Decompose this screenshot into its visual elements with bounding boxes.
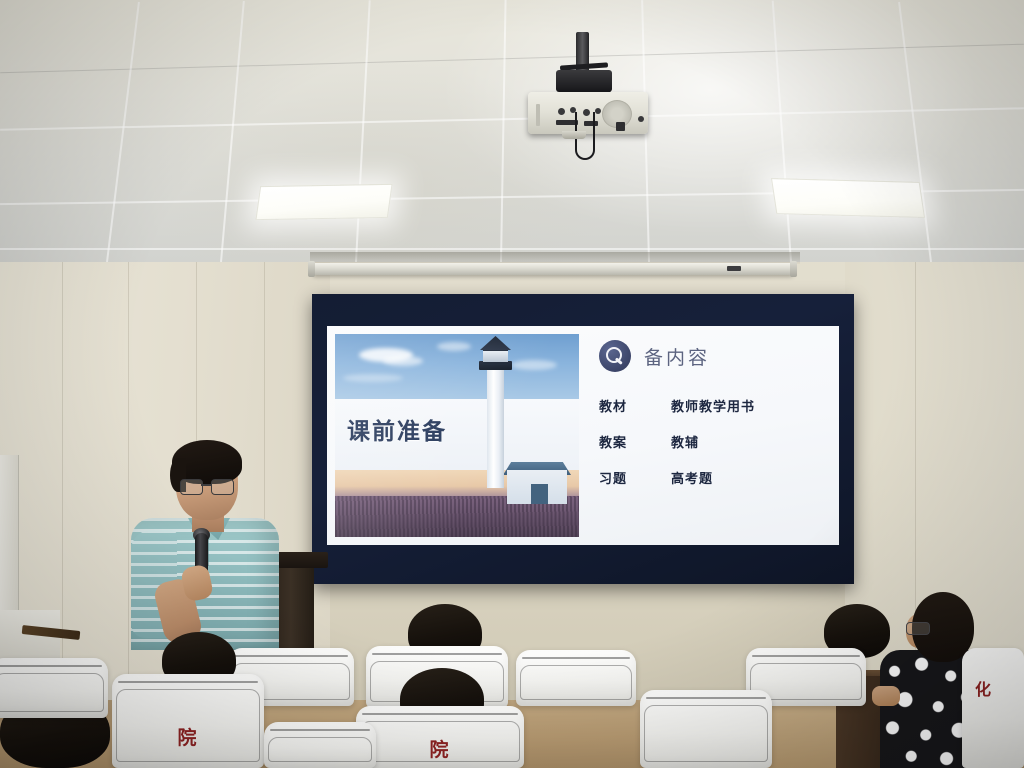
slide-row: 教材 教师教学用书 <box>599 396 827 415</box>
slide-section-header: 备内容 <box>599 340 827 372</box>
photo-sky <box>335 334 579 399</box>
chair-row2-a[interactable]: 院 <box>112 674 264 768</box>
ceiling-light-panel-left <box>255 184 392 220</box>
chair-right-front[interactable] <box>962 648 1024 768</box>
chair-row1-a[interactable] <box>0 658 108 718</box>
chair-row1-b[interactable] <box>264 722 376 768</box>
projector-lens <box>562 131 586 139</box>
chair-label: 院 <box>112 723 264 750</box>
slide-photo-lighthouse: 课前准备 <box>335 334 579 537</box>
slide-section-heading: 备内容 <box>644 343 710 370</box>
slide-row-key: 教材 <box>599 396 671 415</box>
keeper-house-porch <box>531 484 548 504</box>
slide-content-panel: 备内容 教材 教师教学用书 教案 教辅 习题 高考题 <box>599 340 827 504</box>
chair-row3-c[interactable] <box>516 650 636 706</box>
chair-label: 院 <box>356 735 524 762</box>
chair-row2-c[interactable] <box>640 690 772 768</box>
chair-label-right: 化 <box>975 676 993 700</box>
lecture-hall-scene: 课前准备 备内容 教材 教师教学用书 教案 教辅 <box>0 0 1024 768</box>
slide-row: 习题 高考题 <box>599 468 827 487</box>
slide-row-key: 习题 <box>599 468 671 487</box>
lighthouse-lamp-room <box>483 349 508 365</box>
seated-observer-glasses <box>906 622 930 635</box>
slide-row-value: 教辅 <box>671 432 699 451</box>
suspended-ceiling <box>0 0 1024 262</box>
roller-end-mark <box>727 266 741 271</box>
ceiling-light-panel-right <box>771 178 925 218</box>
presenter-glasses <box>180 479 234 493</box>
projection-screen-roller <box>313 263 793 275</box>
seated-observer-arm <box>872 686 900 706</box>
chair-row2-b[interactable]: 院 <box>356 706 524 768</box>
slide-row-value: 教师教学用书 <box>671 396 755 415</box>
slide-row-key: 教案 <box>599 432 671 451</box>
slide-canvas: 课前准备 备内容 教材 教师教学用书 教案 教辅 <box>327 326 839 545</box>
wall-board <box>0 455 19 625</box>
slide-row-value: 高考题 <box>671 468 713 487</box>
slide-title: 课前准备 <box>347 412 447 446</box>
magnifier-icon <box>599 340 631 372</box>
projector-bracket <box>556 70 612 92</box>
slide-row: 教案 教辅 <box>599 432 827 451</box>
